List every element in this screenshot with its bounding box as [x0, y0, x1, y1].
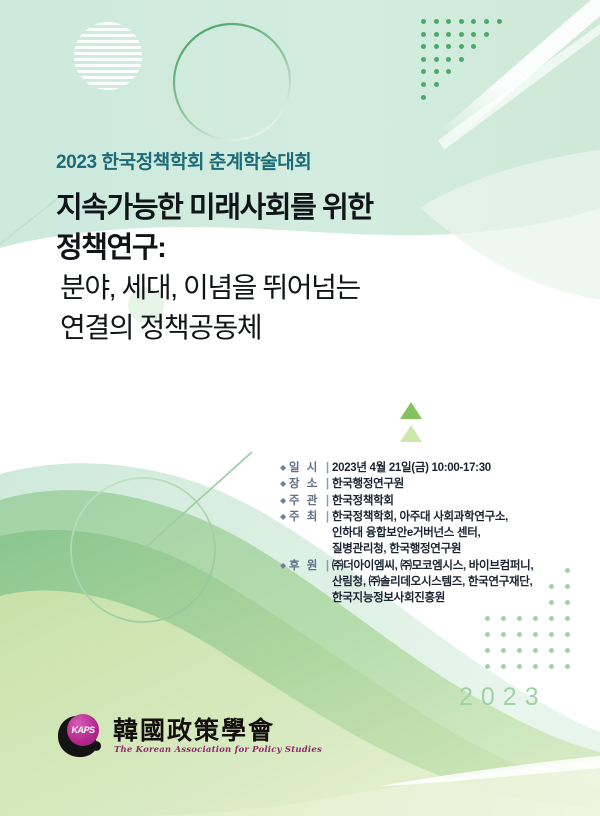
- detail-label: 후 원: [289, 558, 323, 574]
- decorative-dot: [484, 19, 489, 24]
- title-line-4: 연결의 정책공동체: [56, 308, 526, 348]
- detail-separator: |: [323, 460, 332, 476]
- detail-row: ◆일 시|2023년 4월 21일(금) 10:00-17:30: [280, 460, 580, 476]
- decorative-dot: [517, 632, 522, 637]
- decorative-dot: [549, 648, 554, 653]
- decorative-dot: [421, 57, 426, 62]
- decorative-dot: [459, 32, 464, 37]
- decorative-dot: [446, 44, 451, 49]
- decorative-dot: [446, 19, 451, 24]
- logo-hanja-name: 韓國政策學會: [113, 711, 275, 747]
- detail-value-continuation: 질병관리청, 한국행정연구원: [332, 541, 580, 557]
- dot-grid-top-right: [421, 19, 501, 111]
- decorative-dot: [517, 648, 522, 653]
- detail-value-continuation: 한국지능정보사회진흥원: [332, 590, 580, 606]
- detail-value: 한국정책학회: [332, 493, 580, 509]
- decorative-dot: [471, 44, 476, 49]
- detail-value: 2023년 4월 21일(금) 10:00-17:30: [332, 460, 580, 476]
- detail-separator: |: [323, 493, 332, 509]
- decorative-dot: [517, 664, 522, 669]
- decorative-dot: [434, 32, 439, 37]
- detail-label: 일 시: [289, 460, 323, 476]
- decorative-dot: [421, 95, 426, 100]
- decorative-dot: [421, 44, 426, 49]
- detail-value: 한국행정연구원: [332, 476, 580, 492]
- diamond-bullet-icon: ◆: [280, 558, 289, 574]
- decorative-dot: [485, 648, 490, 653]
- decorative-dot: [459, 44, 464, 49]
- diamond-bullet-icon: ◆: [280, 493, 289, 509]
- decorative-dot: [497, 19, 502, 24]
- detail-value-continuation: 인하대 융합보안e거버넌스 센터,: [332, 525, 580, 541]
- decorative-dot: [434, 82, 439, 87]
- decorative-dot: [485, 632, 490, 637]
- decorative-dot: [517, 616, 522, 621]
- decorative-dot: [421, 32, 426, 37]
- event-details-list: ◆일 시|2023년 4월 21일(금) 10:00-17:30◆장 소|한국행…: [280, 460, 580, 607]
- poster-eyebrow: 2023 한국정책학회 춘계학술대회: [56, 147, 311, 174]
- detail-label: 주 관: [289, 493, 323, 509]
- detail-row: ◆후 원|㈜더아이엠씨, ㈜모코엠시스, 바이브컴퍼니,산림청, ㈜솔리데오시스…: [280, 558, 580, 607]
- triangle-up-dark-icon: [400, 402, 422, 419]
- year-mark: 2023: [459, 683, 547, 712]
- decorative-dot: [434, 19, 439, 24]
- decorative-dot: [565, 632, 570, 637]
- decorative-dot: [485, 664, 490, 669]
- decorative-dot: [471, 32, 476, 37]
- striped-circle-decoration: [74, 22, 142, 90]
- association-logo: KAPS 韓國政策學會 The Korean Association for P…: [56, 707, 274, 765]
- decorative-dot: [446, 57, 451, 62]
- detail-value: ㈜더아이엠씨, ㈜모코엠시스, 바이브컴퍼니,산림청, ㈜솔리데오시스템즈, 한…: [332, 558, 580, 607]
- detail-value-continuation: 산림청, ㈜솔리데오시스템즈, 한국연구재단,: [332, 574, 580, 590]
- decorative-dot: [434, 69, 439, 74]
- decorative-dot: [421, 19, 426, 24]
- conference-poster: 2023 한국정책학회 춘계학술대회 지속가능한 미래사회를 위한 정책연구: …: [0, 0, 600, 816]
- decorative-dot: [446, 32, 451, 37]
- decorative-dot: [501, 616, 506, 621]
- decorative-dot: [471, 19, 476, 24]
- decorative-dot: [533, 632, 538, 637]
- decorative-dot: [446, 69, 451, 74]
- diamond-bullet-icon: ◆: [280, 476, 289, 492]
- diamond-bullet-icon: ◆: [280, 460, 289, 476]
- detail-value: 한국정책학회, 아주대 사회과학연구소,인하대 융합보안e거버넌스 센터,질병관…: [332, 509, 580, 558]
- decorative-dot: [484, 32, 489, 37]
- decorative-dot: [501, 632, 506, 637]
- page-title: 지속가능한 미래사회를 위한 정책연구: 분야, 세대, 이념을 뛰어넘는 연결…: [56, 188, 526, 348]
- decorative-dot: [549, 664, 554, 669]
- decorative-dot: [434, 44, 439, 49]
- kaps-badge: KAPS: [67, 714, 99, 746]
- detail-row: ◆주 최|한국정책학회, 아주대 사회과학연구소,인하대 융합보안e거버넌스 센…: [280, 509, 580, 558]
- detail-label: 장 소: [289, 476, 323, 492]
- detail-separator: |: [323, 509, 332, 525]
- triangle-up-light-icon: [400, 425, 422, 442]
- decorative-dot: [501, 648, 506, 653]
- decorative-dot: [533, 664, 538, 669]
- decorative-dot: [421, 82, 426, 87]
- detail-separator: |: [323, 558, 332, 574]
- decorative-dot: [533, 616, 538, 621]
- decorative-dot: [565, 616, 570, 621]
- title-line-2: 정책연구:: [56, 228, 526, 268]
- decorative-dot: [485, 616, 490, 621]
- decorative-dot: [459, 57, 464, 62]
- detail-row: ◆주 관|한국정책학회: [280, 493, 580, 509]
- decorative-dot: [549, 616, 554, 621]
- title-line-3: 분야, 세대, 이념을 뛰어넘는: [56, 268, 526, 308]
- decorative-dot: [501, 664, 506, 669]
- diamond-bullet-icon: ◆: [280, 509, 289, 525]
- detail-separator: |: [323, 476, 332, 492]
- decorative-dot: [549, 632, 554, 637]
- decorative-dot: [434, 57, 439, 62]
- decorative-dot: [533, 648, 538, 653]
- title-line-1: 지속가능한 미래사회를 위한: [56, 188, 526, 228]
- detail-label: 주 최: [289, 509, 323, 525]
- detail-row: ◆장 소|한국행정연구원: [280, 476, 580, 492]
- decorative-dot: [421, 69, 426, 74]
- decorative-dot: [565, 664, 570, 669]
- decorative-dot: [565, 648, 570, 653]
- decorative-dot: [459, 19, 464, 24]
- logo-english-name: The Korean Association for Policy Studie…: [114, 745, 322, 755]
